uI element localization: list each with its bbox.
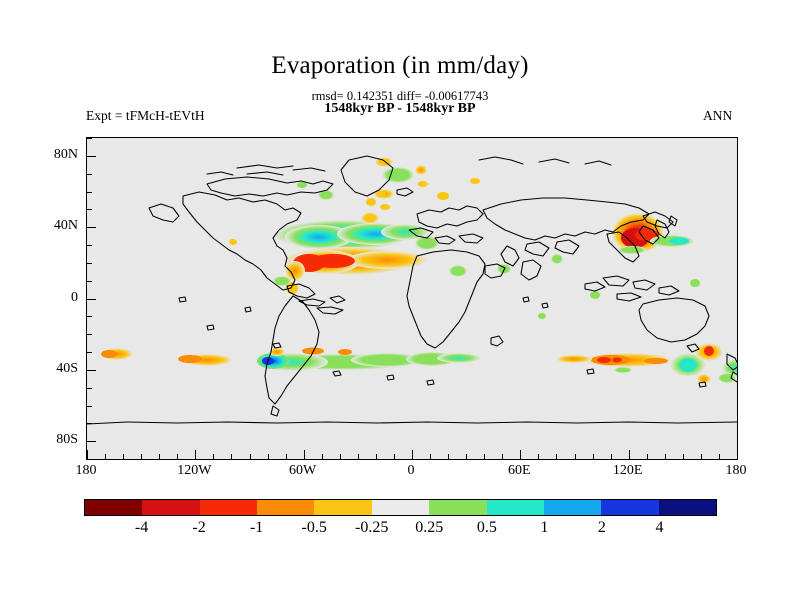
x-tick-label: 180 <box>726 463 747 479</box>
y-tick <box>87 441 96 442</box>
colorbar-tick-label: -1 <box>250 519 263 537</box>
y-tick-label: 80N <box>30 147 78 163</box>
x-tick <box>448 454 449 459</box>
colorbar-segment <box>372 500 429 515</box>
x-tick <box>484 454 485 459</box>
x-tick <box>629 450 630 459</box>
x-tick <box>213 454 214 459</box>
y-tick <box>87 209 92 210</box>
colorbar-segment <box>200 500 257 515</box>
y-tick-label: 0 <box>30 290 78 306</box>
x-tick <box>268 454 269 459</box>
colorbar-tick-label: 4 <box>655 519 663 537</box>
x-tick <box>358 454 359 459</box>
y-tick <box>87 334 92 335</box>
map-background <box>87 138 737 459</box>
y-tick <box>87 281 92 282</box>
colorbar-segment <box>659 500 716 515</box>
y-tick <box>87 459 92 460</box>
x-tick <box>719 454 720 459</box>
x-tick <box>159 454 160 459</box>
y-tick <box>87 352 92 353</box>
x-tick <box>647 454 648 459</box>
x-tick-label: 120E <box>613 463 643 479</box>
x-tick <box>502 454 503 459</box>
experiment-label: Expt = tFMcH-tEVtH <box>86 108 205 124</box>
x-tick-label: 60W <box>289 463 316 479</box>
season-label: ANN <box>703 108 732 124</box>
x-tick <box>412 450 413 459</box>
x-tick <box>556 454 557 459</box>
colorbar-tick-label: 0.25 <box>415 519 443 537</box>
page-title: Evaporation (in mm/day) <box>0 52 800 80</box>
colorbar-segment <box>142 500 199 515</box>
x-tick <box>195 450 196 459</box>
x-tick <box>701 454 702 459</box>
x-tick <box>304 450 305 459</box>
x-tick <box>177 454 178 459</box>
colorbar-tick-label: -2 <box>192 519 205 537</box>
x-tick <box>466 454 467 459</box>
x-tick <box>141 454 142 459</box>
y-tick <box>87 192 92 193</box>
colorbar-segment <box>314 500 371 515</box>
colorbar-tick-label: 2 <box>598 519 606 537</box>
map-plot-area <box>86 137 738 460</box>
y-tick <box>87 263 92 264</box>
x-tick-label: 0 <box>408 463 415 479</box>
x-tick-label: 60E <box>508 463 531 479</box>
x-tick <box>575 454 576 459</box>
x-tick <box>286 454 287 459</box>
x-tick <box>538 454 539 459</box>
x-tick <box>87 450 88 459</box>
x-tick-label: 120W <box>177 463 211 479</box>
y-tick <box>87 156 96 157</box>
colorbar-segment <box>429 500 486 515</box>
y-tick <box>87 370 96 371</box>
colorbar-tick-label: -4 <box>135 519 148 537</box>
x-tick <box>231 454 232 459</box>
colorbar-segment <box>601 500 658 515</box>
colorbar-segment <box>487 500 544 515</box>
colorbar-tick-label: -0.25 <box>355 519 388 537</box>
x-tick <box>520 450 521 459</box>
x-tick <box>665 454 666 459</box>
x-tick <box>737 450 738 459</box>
x-tick <box>322 454 323 459</box>
y-tick <box>87 406 92 407</box>
colorbar <box>84 499 717 516</box>
y-tick <box>87 138 92 139</box>
world-map-svg <box>87 138 737 459</box>
y-tick <box>87 227 96 228</box>
x-tick <box>123 454 124 459</box>
colorbar-tick-label: 0.5 <box>477 519 497 537</box>
x-tick <box>105 454 106 459</box>
y-tick <box>87 388 92 389</box>
y-tick <box>87 316 92 317</box>
colorbar-segment <box>85 500 142 515</box>
colorbar-segment <box>257 500 314 515</box>
x-tick <box>430 454 431 459</box>
y-tick <box>87 299 96 300</box>
x-tick <box>593 454 594 459</box>
colorbar-tick-label: -0.5 <box>302 519 327 537</box>
y-tick-label: 80S <box>30 432 78 448</box>
y-tick <box>87 423 92 424</box>
y-tick-label: 40N <box>30 218 78 234</box>
y-tick-label: 40S <box>30 361 78 377</box>
x-tick <box>376 454 377 459</box>
x-tick <box>611 454 612 459</box>
x-tick <box>250 454 251 459</box>
y-tick <box>87 174 92 175</box>
x-tick-label: 180 <box>76 463 97 479</box>
colorbar-segment <box>544 500 601 515</box>
x-tick <box>340 454 341 459</box>
y-tick <box>87 245 92 246</box>
x-tick <box>394 454 395 459</box>
colorbar-tick-label: 1 <box>540 519 548 537</box>
x-tick <box>683 454 684 459</box>
